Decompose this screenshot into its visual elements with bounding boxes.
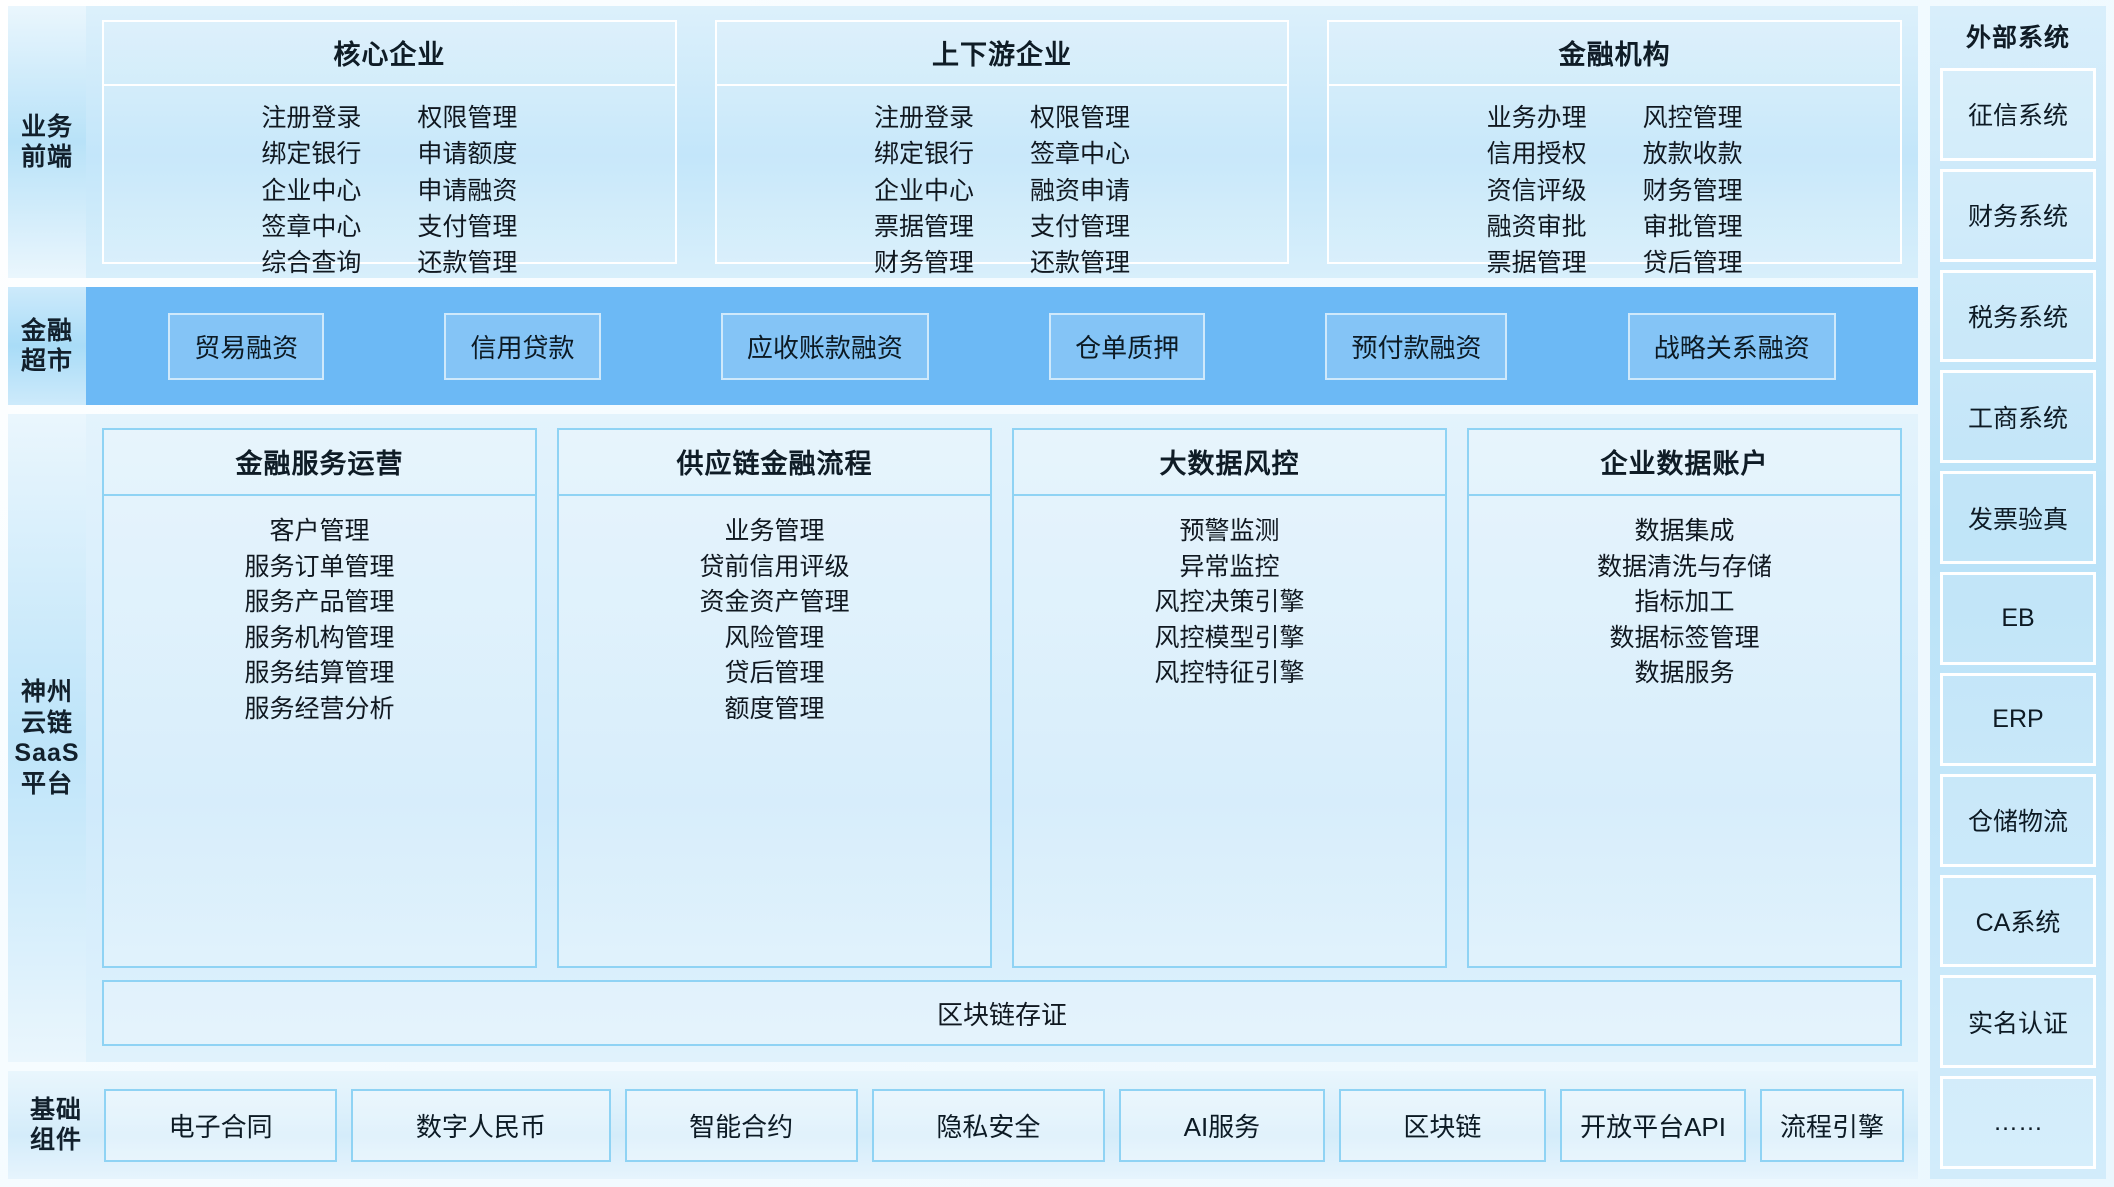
base-chip-ai-service[interactable]: AI服务 — [1119, 1089, 1325, 1162]
base-chip-process-engine[interactable]: 流程引擎 — [1760, 1089, 1904, 1162]
saas-card-supply-chain-finance-process[interactable]: 供应链金融流程 业务管理 贷前信用评级 资金资产管理 风险管理 贷后管理 额度管… — [557, 428, 992, 968]
saas-card-enterprise-data-account[interactable]: 企业数据账户 数据集成 数据清洗与存储 指标加工 数据标签管理 数据服务 — [1467, 428, 1902, 968]
list-item[interactable]: 数据清洗与存储 — [1597, 550, 1772, 585]
base-chip-digital-rmb[interactable]: 数字人民币 — [351, 1089, 610, 1162]
market-chip-trade-finance[interactable]: 贸易融资 — [168, 313, 324, 380]
list-item[interactable]: 异常监控 — [1179, 550, 1279, 585]
list-item[interactable]: 服务订单管理 — [244, 550, 394, 585]
business-frontend-cards: 核心企业 注册登录 绑定银行 企业中心 签章中心 综合查询 权限管理 申请额度 — [86, 6, 1918, 278]
list-item[interactable]: 支付管理 — [417, 210, 517, 244]
card-column-right: 权限管理 申请额度 申请融资 支付管理 还款管理 — [417, 101, 517, 280]
list-item[interactable]: 客户管理 — [269, 514, 369, 549]
saas-card-big-data-risk-control[interactable]: 大数据风控 预警监测 异常监控 风控决策引擎 风控模型引擎 风控特征引擎 — [1012, 428, 1447, 968]
saas-card-financial-service-operation[interactable]: 金融服务运营 客户管理 服务订单管理 服务产品管理 服务机构管理 服务结算管理 … — [102, 428, 537, 968]
list-item[interactable]: 还款管理 — [417, 246, 517, 280]
card-column-right: 风控管理 放款收款 财务管理 审批管理 贷后管理 — [1643, 101, 1743, 280]
list-item[interactable]: 服务机构管理 — [244, 621, 394, 656]
list-item[interactable]: 企业中心 — [261, 174, 361, 208]
card-title: 上下游企业 — [717, 22, 1288, 86]
external-item-business-registration-system[interactable]: 工商系统 — [1940, 370, 2096, 463]
list-item[interactable]: 服务结算管理 — [244, 656, 394, 691]
list-item[interactable]: 财务管理 — [874, 246, 974, 280]
list-item[interactable]: 综合查询 — [261, 246, 361, 280]
list-item[interactable]: 融资申请 — [1030, 174, 1130, 208]
band-business-frontend: 业务 前端 核心企业 注册登录 绑定银行 企业中心 签章中心 综合查询 权限管 — [8, 6, 1918, 278]
list-item[interactable]: 业务管理 — [724, 514, 824, 549]
card-title: 大数据风控 — [1014, 430, 1445, 496]
list-item[interactable]: 服务产品管理 — [244, 585, 394, 620]
base-chip-blockchain[interactable]: 区块链 — [1339, 1089, 1546, 1162]
list-item[interactable]: 还款管理 — [1030, 246, 1130, 280]
external-item-credit-reporting-system[interactable]: 征信系统 — [1940, 68, 2096, 161]
list-item[interactable]: 注册登录 — [874, 101, 974, 135]
list-item[interactable]: 风险管理 — [724, 621, 824, 656]
band-label-business-frontend: 业务 前端 — [8, 6, 86, 278]
card-columns: 注册登录 绑定银行 企业中心 票据管理 财务管理 权限管理 签章中心 融资申请 … — [717, 86, 1288, 288]
card-column-right: 权限管理 签章中心 融资申请 支付管理 还款管理 — [1030, 101, 1130, 280]
external-item-erp[interactable]: ERP — [1940, 673, 2096, 766]
list-item[interactable]: 审批管理 — [1643, 210, 1743, 244]
list-item[interactable]: 数据服务 — [1634, 656, 1734, 691]
external-item-tax-system[interactable]: 税务系统 — [1940, 270, 2096, 363]
band-label-base-components: 基础 组件 — [8, 1095, 104, 1156]
market-chip-warehouse-receipt-pledge[interactable]: 仓单质押 — [1049, 313, 1205, 380]
base-chip-privacy-security[interactable]: 隐私安全 — [872, 1089, 1105, 1162]
list-item[interactable]: 数据标签管理 — [1609, 621, 1759, 656]
list-item[interactable]: 票据管理 — [1487, 246, 1587, 280]
card-title: 供应链金融流程 — [559, 430, 990, 496]
list-item[interactable]: 放款收款 — [1643, 137, 1743, 171]
external-item-invoice-verification[interactable]: 发票验真 — [1940, 471, 2096, 564]
saas-blockchain-evidence-bar[interactable]: 区块链存证 — [102, 980, 1902, 1046]
list-item[interactable]: 资金资产管理 — [699, 585, 849, 620]
list-item[interactable]: 权限管理 — [417, 101, 517, 135]
card-item-list: 业务管理 贷前信用评级 资金资产管理 风险管理 贷后管理 额度管理 — [559, 496, 990, 966]
band-financial-market: 金融 超市 贸易融资 信用贷款 应收账款融资 仓单质押 预付款融资 战略关系融资 — [8, 287, 1918, 405]
list-item[interactable]: 信用授权 — [1487, 137, 1587, 171]
list-item[interactable]: 票据管理 — [874, 210, 974, 244]
list-item[interactable]: 额度管理 — [724, 692, 824, 727]
frontend-card-financial-institution[interactable]: 金融机构 业务办理 信用授权 资信评级 融资审批 票据管理 风控管理 放款收款 — [1327, 20, 1902, 264]
card-title: 核心企业 — [104, 22, 675, 86]
list-item[interactable]: 风控模型引擎 — [1154, 621, 1304, 656]
main-column: 业务 前端 核心企业 注册登录 绑定银行 企业中心 签章中心 综合查询 权限管 — [8, 6, 1918, 1179]
list-item[interactable]: 财务管理 — [1643, 174, 1743, 208]
list-item[interactable]: 贷后管理 — [1643, 246, 1743, 280]
list-item[interactable]: 预警监测 — [1179, 514, 1279, 549]
market-chip-prepayment-finance[interactable]: 预付款融资 — [1325, 313, 1507, 380]
band-saas-platform: 神州 云链 SaaS 平台 金融服务运营 客户管理 服务订单管理 服务产品管理 … — [8, 414, 1918, 1062]
list-item[interactable]: 资信评级 — [1487, 174, 1587, 208]
external-item-warehouse-logistics[interactable]: 仓储物流 — [1940, 774, 2096, 867]
list-item[interactable]: 签章中心 — [261, 210, 361, 244]
architecture-diagram: 业务 前端 核心企业 注册登录 绑定银行 企业中心 签章中心 综合查询 权限管 — [0, 0, 2114, 1187]
frontend-card-core-enterprise[interactable]: 核心企业 注册登录 绑定银行 企业中心 签章中心 综合查询 权限管理 申请额度 — [102, 20, 677, 264]
financial-market-chips: 贸易融资 信用贷款 应收账款融资 仓单质押 预付款融资 战略关系融资 — [86, 287, 1918, 405]
external-item-real-name-authentication[interactable]: 实名认证 — [1940, 975, 2096, 1068]
card-columns: 注册登录 绑定银行 企业中心 签章中心 综合查询 权限管理 申请额度 申请融资 … — [104, 86, 675, 288]
card-column-left: 业务办理 信用授权 资信评级 融资审批 票据管理 — [1487, 101, 1587, 280]
base-chip-open-platform-api[interactable]: 开放平台API — [1560, 1089, 1746, 1162]
list-item[interactable]: 贷后管理 — [724, 656, 824, 691]
band-base-components: 基础 组件 电子合同 数字人民币 智能合约 隐私安全 AI服务 区块链 开放平台… — [8, 1071, 1918, 1179]
market-chip-strategic-relationship-finance[interactable]: 战略关系融资 — [1628, 313, 1836, 380]
market-chip-credit-loan[interactable]: 信用贷款 — [444, 313, 600, 380]
card-column-left: 注册登录 绑定银行 企业中心 票据管理 财务管理 — [874, 101, 974, 280]
base-chip-electronic-contract[interactable]: 电子合同 — [104, 1089, 337, 1162]
card-title: 金融服务运营 — [104, 430, 535, 496]
list-item[interactable]: 服务经营分析 — [244, 692, 394, 727]
card-item-list: 数据集成 数据清洗与存储 指标加工 数据标签管理 数据服务 — [1469, 496, 1900, 966]
external-systems-title: 外部系统 — [1940, 14, 2096, 60]
external-item-eb[interactable]: EB — [1940, 572, 2096, 665]
card-title: 企业数据账户 — [1469, 430, 1900, 496]
list-item[interactable]: 申请融资 — [417, 174, 517, 208]
external-systems-panel: 外部系统 征信系统 财务系统 税务系统 工商系统 发票验真 EB ERP 仓储物… — [1930, 6, 2106, 1179]
list-item[interactable]: 企业中心 — [874, 174, 974, 208]
list-item[interactable]: 业务办理 — [1487, 101, 1587, 135]
card-item-list: 预警监测 异常监控 风控决策引擎 风控模型引擎 风控特征引擎 — [1014, 496, 1445, 966]
band-label-saas-platform: 神州 云链 SaaS 平台 — [8, 414, 86, 1062]
list-item[interactable]: 数据集成 — [1634, 514, 1734, 549]
card-column-left: 注册登录 绑定银行 企业中心 签章中心 综合查询 — [261, 101, 361, 280]
card-title: 金融机构 — [1329, 22, 1900, 86]
list-item[interactable]: 申请额度 — [417, 137, 517, 171]
list-item[interactable]: 权限管理 — [1030, 101, 1130, 135]
market-chip-receivables-finance[interactable]: 应收账款融资 — [721, 313, 929, 380]
saas-card-row: 金融服务运营 客户管理 服务订单管理 服务产品管理 服务机构管理 服务结算管理 … — [102, 428, 1902, 968]
saas-platform-body: 金融服务运营 客户管理 服务订单管理 服务产品管理 服务机构管理 服务结算管理 … — [86, 414, 1918, 1062]
card-item-list: 客户管理 服务订单管理 服务产品管理 服务机构管理 服务结算管理 服务经营分析 — [104, 496, 535, 966]
band-label-financial-market: 金融 超市 — [8, 287, 86, 405]
card-columns: 业务办理 信用授权 资信评级 融资审批 票据管理 风控管理 放款收款 财务管理 … — [1329, 86, 1900, 288]
external-item-ca-system[interactable]: CA系统 — [1940, 875, 2096, 968]
base-chip-smart-contract[interactable]: 智能合约 — [625, 1089, 858, 1162]
external-item-finance-system[interactable]: 财务系统 — [1940, 169, 2096, 262]
list-item[interactable]: 指标加工 — [1634, 585, 1734, 620]
frontend-card-upstream-downstream-enterprise[interactable]: 上下游企业 注册登录 绑定银行 企业中心 票据管理 财务管理 权限管理 签章中心 — [715, 20, 1290, 264]
list-item[interactable]: 绑定银行 — [874, 137, 974, 171]
external-item-more[interactable]: …… — [1940, 1076, 2096, 1169]
list-item[interactable]: 绑定银行 — [261, 137, 361, 171]
list-item[interactable]: 融资审批 — [1487, 210, 1587, 244]
list-item[interactable]: 风控决策引擎 — [1154, 585, 1304, 620]
list-item[interactable]: 注册登录 — [261, 101, 361, 135]
list-item[interactable]: 贷前信用评级 — [699, 550, 849, 585]
base-component-chips: 电子合同 数字人民币 智能合约 隐私安全 AI服务 区块链 开放平台API 流程… — [104, 1089, 1908, 1162]
list-item[interactable]: 风控管理 — [1643, 101, 1743, 135]
list-item[interactable]: 风控特征引擎 — [1154, 656, 1304, 691]
list-item[interactable]: 签章中心 — [1030, 137, 1130, 171]
list-item[interactable]: 支付管理 — [1030, 210, 1130, 244]
